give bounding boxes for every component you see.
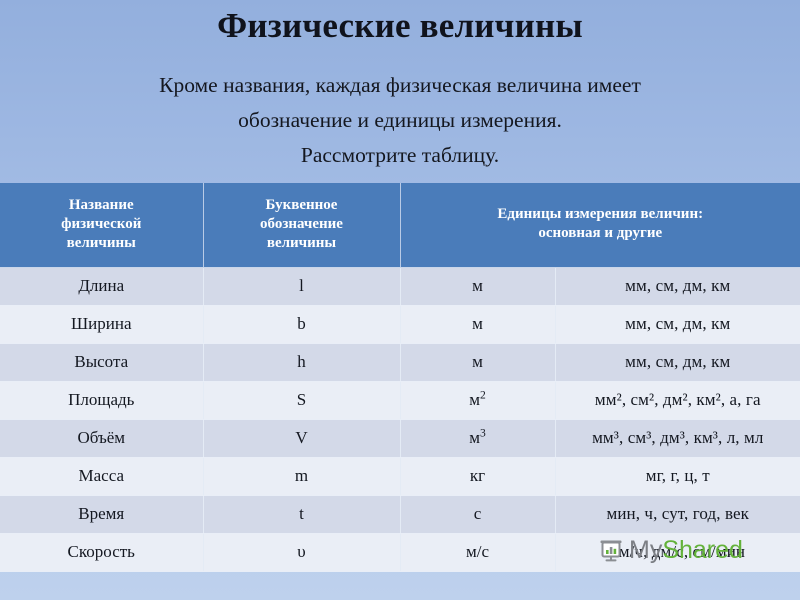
table-row: Высота h м мм, см, дм, км	[0, 343, 800, 381]
cell-quantity-name: Высота	[0, 343, 203, 381]
table-row: Масса m кг мг, г, ц, т	[0, 457, 800, 495]
cell-quantity-name: Длина	[0, 267, 203, 305]
column-header-symbol-line-3: величины	[267, 235, 336, 251]
table-row: Время t с мин, ч, сут, год, век	[0, 495, 800, 533]
cell-quantity-name: Время	[0, 495, 203, 533]
column-header-name-line-2: физической	[61, 216, 141, 232]
cell-other-units: км/ч, дм/с, см/мин	[555, 533, 800, 571]
cell-quantity-name: Объём	[0, 419, 203, 457]
cell-quantity-name: Площадь	[0, 381, 203, 419]
column-header-units: Единицы измерения величин: основная и др…	[400, 183, 800, 267]
cell-symbol: V	[203, 419, 400, 457]
cell-base-unit: м	[400, 267, 555, 305]
column-header-name-line-3: величины	[67, 235, 136, 251]
column-header-units-line-1: Единицы измерения величин:	[497, 206, 703, 222]
cell-symbol: S	[203, 381, 400, 419]
cell-symbol: t	[203, 495, 400, 533]
table-row: Скорость υ м/с км/ч, дм/с, см/мин	[0, 533, 800, 571]
cell-quantity-name: Масса	[0, 457, 203, 495]
column-header-units-line-2: основная и другие	[538, 225, 662, 241]
table-row: Ширина b м мм, см, дм, км	[0, 305, 800, 343]
cell-base-unit: с	[400, 495, 555, 533]
cell-other-units: мм, см, дм, км	[555, 305, 800, 343]
cell-other-units: мм³, см³, дм³, км³, л, мл	[555, 419, 800, 457]
table-row: Объём V м3 мм³, см³, дм³, км³, л, мл	[0, 419, 800, 457]
cell-base-unit: м	[400, 305, 555, 343]
cell-other-units: мм², см², дм², км², а, га	[555, 381, 800, 419]
column-header-name-line-1: Название	[69, 197, 134, 213]
cell-other-units: мм, см, дм, км	[555, 343, 800, 381]
cell-symbol: υ	[203, 533, 400, 571]
intro-paragraph: Кроме названия, каждая физическая величи…	[60, 68, 740, 173]
table-row: Длина l м мм, см, дм, км	[0, 267, 800, 305]
cell-base-unit: м3	[400, 419, 555, 457]
column-header-symbol-line-1: Буквенное	[266, 197, 338, 213]
table-header: Название физической величины Буквенное о…	[0, 183, 800, 267]
column-header-symbol: Буквенное обозначение величины	[203, 183, 400, 267]
cell-symbol: h	[203, 343, 400, 381]
cell-other-units: мин, ч, сут, год, век	[555, 495, 800, 533]
column-header-name: Название физической величины	[0, 183, 203, 267]
page-title: Физические величины	[0, 4, 800, 48]
cell-base-unit: м	[400, 343, 555, 381]
slide-canvas: Физические величины Кроме названия, кажд…	[0, 0, 800, 600]
physical-quantities-table: Название физической величины Буквенное о…	[0, 183, 800, 572]
table-row: Площадь S м2 мм², см², дм², км², а, га	[0, 381, 800, 419]
cell-quantity-name: Ширина	[0, 305, 203, 343]
cell-base-unit: м/с	[400, 533, 555, 571]
cell-symbol: l	[203, 267, 400, 305]
cell-base-unit: м2	[400, 381, 555, 419]
intro-line-2: обозначение и единицы измерения.	[60, 103, 740, 138]
cell-other-units: мг, г, ц, т	[555, 457, 800, 495]
table-body: Длина l м мм, см, дм, км Ширина b м мм, …	[0, 267, 800, 571]
cell-symbol: b	[203, 305, 400, 343]
table-header-row: Название физической величины Буквенное о…	[0, 183, 800, 267]
intro-line-3: Рассмотрите таблицу.	[60, 138, 740, 173]
column-header-symbol-line-2: обозначение	[260, 216, 343, 232]
cell-quantity-name: Скорость	[0, 533, 203, 571]
cell-symbol: m	[203, 457, 400, 495]
cell-other-units: мм, см, дм, км	[555, 267, 800, 305]
cell-base-unit: кг	[400, 457, 555, 495]
intro-line-1: Кроме названия, каждая физическая величи…	[60, 68, 740, 103]
physical-quantities-table-wrapper: Название физической величины Буквенное о…	[0, 183, 800, 572]
